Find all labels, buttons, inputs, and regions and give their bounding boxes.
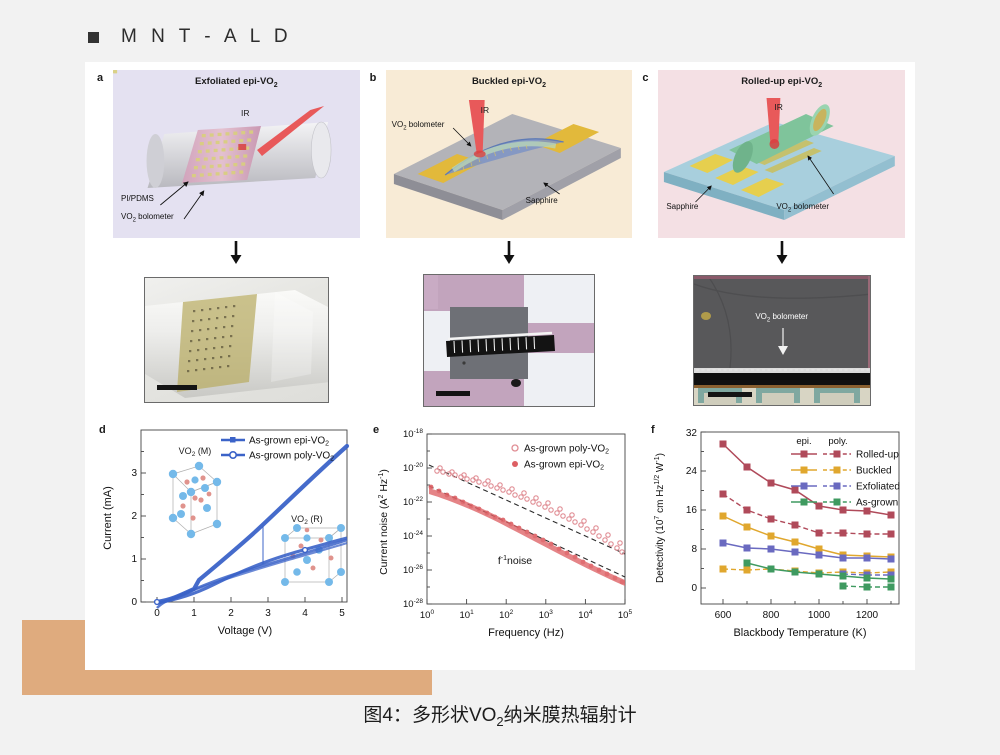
panel-d-svg: 01 23 012 345 Voltage (V) Current (mA) xyxy=(95,422,363,660)
svg-text:101: 101 xyxy=(459,609,474,621)
svg-text:3: 3 xyxy=(265,608,271,619)
panel-a: a Exfoliated epi-VO2 xyxy=(95,68,360,420)
panel-a-photo xyxy=(113,264,360,416)
panel-a-scale-bar xyxy=(157,385,197,390)
panel-f-letter: f xyxy=(651,424,655,436)
panel-f-series-exfoliated-epi xyxy=(720,540,895,563)
panel-f-legend-header-epi: epi. xyxy=(796,436,811,447)
panel-f-series-asgrown-epi xyxy=(744,560,895,583)
svg-text:10-22: 10-22 xyxy=(403,496,423,508)
svg-text:2: 2 xyxy=(131,511,137,522)
panel-e-series-epi xyxy=(429,485,625,586)
panel-b-photo-content xyxy=(424,275,595,407)
panel-d-legend-item-1: As-grown poly-VO2 xyxy=(249,451,334,463)
panel-e-legend-item-1: As-grown epi-VO2 xyxy=(524,460,604,472)
panel-c-letter: c xyxy=(642,72,648,84)
panel-c-scale-bar xyxy=(708,392,752,397)
panel-b-ir-label: IR xyxy=(481,105,490,115)
panel-f-xlabel: Blackbody Temperature (K) xyxy=(733,627,866,639)
panel-b-label-bolometer: VO2 bolometer xyxy=(392,120,445,132)
panel-d-letter: d xyxy=(99,424,106,436)
panel-b-letter: b xyxy=(370,72,377,84)
panel-a-down-arrow-icon xyxy=(113,240,360,266)
svg-text:102: 102 xyxy=(499,609,514,621)
svg-text:3: 3 xyxy=(131,468,137,479)
svg-text:10-26: 10-26 xyxy=(403,564,423,576)
panel-c-schematic: Rolled-up epi-VO2 xyxy=(658,70,905,238)
panel-d-legend-item-0: As-grown epi-VO2 xyxy=(249,436,329,448)
panel-a-label-bolometer: VO2 bolometer xyxy=(121,212,174,224)
panel-f-legend-item-0: Rolled-up xyxy=(856,450,899,461)
panel-d-origin-marker xyxy=(155,600,160,605)
square-bullet-icon xyxy=(88,32,99,43)
panel-f-svg: 08 162432 600800 10001200 Blackbody Temp… xyxy=(647,422,915,660)
panel-a-letter: a xyxy=(97,72,103,84)
panel-e-xlabel: Frequency (Hz) xyxy=(488,627,564,639)
panel-f-legend-item-2: Exfoliated xyxy=(856,482,900,493)
panel-b-scale-bar xyxy=(436,391,470,396)
svg-text:2: 2 xyxy=(228,608,234,619)
panel-f-ylabel: Detectivity (107 cm Hz1/2 W-1) xyxy=(654,453,666,583)
panel-e-annotation-f-noise: f-1noise xyxy=(498,555,532,567)
svg-text:10-28: 10-28 xyxy=(403,598,423,610)
panel-b-photo xyxy=(386,264,633,416)
panel-d-ylabel: Current (mA) xyxy=(102,486,114,550)
svg-text:5: 5 xyxy=(339,608,345,619)
panel-c-down-arrow-icon xyxy=(658,240,905,266)
svg-text:10-18: 10-18 xyxy=(403,428,423,440)
panel-c-photo: VO2 bolometer xyxy=(658,264,905,416)
svg-text:10-20: 10-20 xyxy=(403,462,423,474)
svg-text:1: 1 xyxy=(131,554,137,565)
panel-d-legend: As-grown epi-VO2 As-grown poly-VO2 xyxy=(221,436,334,463)
panel-b-schematic: Buckled epi-VO2 xyxy=(386,70,633,238)
panel-c-label-sapphire: Sapphire xyxy=(666,202,698,211)
panel-e-legend-item-0: As-grown poly-VO2 xyxy=(524,444,609,456)
svg-text:103: 103 xyxy=(539,609,554,621)
panel-b: b Buckled epi-VO2 xyxy=(368,68,633,420)
svg-text:1200: 1200 xyxy=(856,610,879,621)
panel-c: c Rolled-up epi-VO2 xyxy=(640,68,905,420)
svg-text:4: 4 xyxy=(302,608,308,619)
svg-text:100: 100 xyxy=(420,609,435,621)
panel-c-ir-label: IR xyxy=(774,102,783,112)
panel-e-letter: e xyxy=(373,424,379,436)
panel-b-down-arrow-icon xyxy=(386,240,633,266)
figure-card: a Exfoliated epi-VO2 xyxy=(85,62,915,670)
svg-text:8: 8 xyxy=(691,544,697,555)
svg-text:1: 1 xyxy=(191,608,197,619)
panel-d-inset-vo2-m: VO2 (M) xyxy=(169,446,221,538)
panel-c-photo-content xyxy=(694,276,871,406)
schematic-row: a Exfoliated epi-VO2 xyxy=(95,68,905,420)
svg-text:24: 24 xyxy=(686,466,698,477)
panel-f-legend-item-1: Buckled xyxy=(856,466,892,477)
slide-root: M N T - A L D a Exfoliated epi-VO2 xyxy=(0,0,1000,755)
panel-f-chart: f 08 162432 xyxy=(647,422,915,662)
panel-f-legend-item-3: As-grown xyxy=(856,498,898,509)
svg-text:10-24: 10-24 xyxy=(403,530,423,542)
svg-text:0: 0 xyxy=(154,608,160,619)
plot-row: d 01 23 xyxy=(95,422,905,662)
panel-e-chart: e 10-18 10-20 10-22 10-24 xyxy=(369,422,641,662)
panel-c-label-bolometer: VO2 bolometer xyxy=(776,202,829,214)
svg-text:VO2 (M): VO2 (M) xyxy=(179,446,212,458)
svg-text:32: 32 xyxy=(686,428,698,439)
svg-text:0: 0 xyxy=(691,583,697,594)
panel-d-xlabel: Voltage (V) xyxy=(218,625,272,637)
panel-b-illustration xyxy=(386,70,633,238)
svg-text:0: 0 xyxy=(131,597,137,608)
panel-c-photo-label: VO2 bolometer xyxy=(755,312,808,324)
svg-text:104: 104 xyxy=(578,609,593,621)
page-title: M N T - A L D xyxy=(121,26,292,48)
slide-header: M N T - A L D xyxy=(88,26,292,48)
panel-e-ylabel: Current noise (A2 Hz-1) xyxy=(378,469,390,575)
panel-f-legend-header-poly: poly. xyxy=(828,436,847,447)
figure-caption: 图4：多形状VO2纳米膜热辐射计 xyxy=(0,700,1000,729)
panel-e-svg: 10-18 10-20 10-22 10-24 10-26 10-28 100 xyxy=(369,422,641,660)
panel-d-chart: d 01 23 xyxy=(95,422,363,662)
panel-e-legend: As-grown poly-VO2 As-grown epi-VO2 xyxy=(512,444,609,472)
panel-a-label-pi-pdms: PI/PDMS xyxy=(121,194,154,203)
panel-a-schematic: Exfoliated epi-VO2 xyxy=(113,70,360,238)
svg-text:1000: 1000 xyxy=(808,610,831,621)
panel-f-series-asgrown-poly xyxy=(840,583,895,591)
svg-text:16: 16 xyxy=(686,505,698,516)
svg-text:800: 800 xyxy=(763,610,780,621)
svg-text:105: 105 xyxy=(618,609,633,621)
svg-text:600: 600 xyxy=(715,610,732,621)
panel-b-label-sapphire: Sapphire xyxy=(526,196,558,205)
